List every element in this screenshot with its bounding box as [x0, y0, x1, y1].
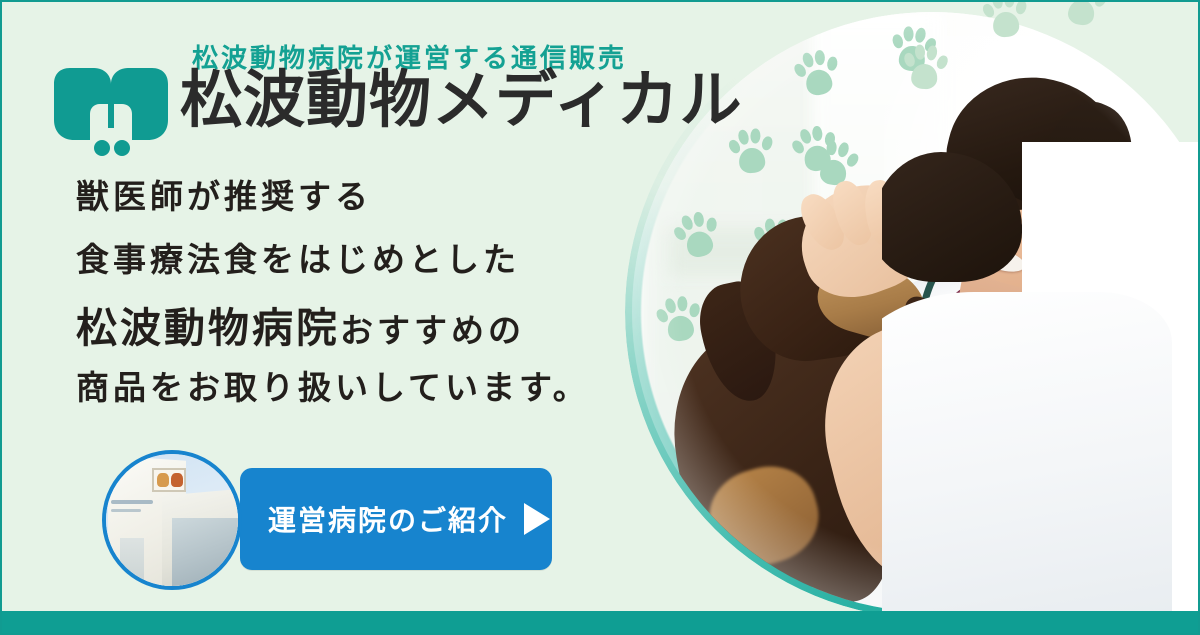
- lead-line-3-rest: おすすめの: [340, 312, 525, 349]
- building-door: [120, 538, 144, 590]
- hospital-building-photo[interactable]: [102, 450, 242, 590]
- lead-line-1: 獣医師が推奨する: [76, 180, 590, 213]
- vet-hair-overflow: [882, 152, 1022, 282]
- page-title: 松波動物メディカル: [180, 70, 743, 132]
- cta-group: 運営病院のご紹介: [102, 450, 552, 590]
- vet-photo-overflow: [882, 142, 1200, 622]
- lead-copy: 獣医師が推奨する 食事療法食をはじめとした 松波動物病院おすすめの 商品をお取り…: [76, 180, 590, 404]
- hospital-intro-button-label: 運営病院のご紹介: [268, 499, 508, 539]
- building-signage-line: [111, 509, 141, 512]
- lead-line-3: 松波動物病院おすすめの: [76, 308, 590, 349]
- hospital-intro-button[interactable]: 運営病院のご紹介: [240, 468, 552, 570]
- white-coat-overflow: [882, 292, 1172, 622]
- lead-line-4: 商品をお取り扱いしています。: [76, 371, 590, 404]
- lead-line-3-strong: 松波動物病院: [76, 305, 340, 351]
- lead-line-2: 食事療法食をはじめとした: [76, 243, 590, 276]
- building-animal-sign: [152, 468, 186, 492]
- banner-content: 松波動物病院が運営する通信販売 松波動物メディカル 獣医師が推奨する 食事療法食…: [2, 2, 662, 633]
- building-glass-entrance: [172, 518, 242, 590]
- matsunami-m-logo: [54, 68, 168, 156]
- play-triangle-icon: [524, 503, 550, 535]
- promo-banner: 松波動物病院が運営する通信販売 松波動物メディカル 獣医師が推奨する 食事療法食…: [0, 0, 1200, 635]
- building-signage-line: [111, 500, 153, 504]
- bottom-teal-bar: [2, 611, 1198, 633]
